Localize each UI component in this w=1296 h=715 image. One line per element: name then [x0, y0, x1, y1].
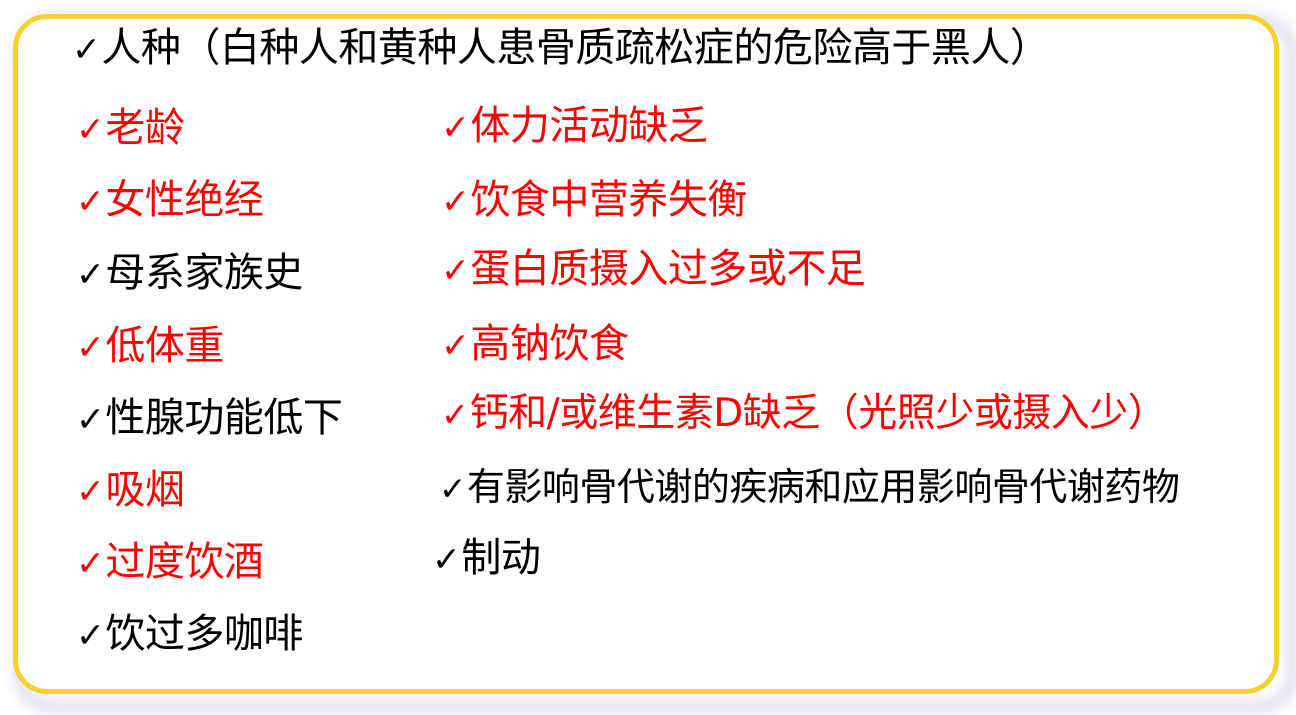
list-item-left-3: ✓母系家族史 — [76, 253, 303, 293]
list-item-left-6-label: 吸烟 — [105, 470, 184, 510]
list-item-right-3-label: 蛋白质摄入过多或不足 — [470, 249, 865, 289]
list-item-left-5-label: 性腺功能低下 — [105, 398, 342, 438]
list-item-right-6: ✓有影响骨代谢的疾病和应用影响骨代谢药物 — [439, 468, 1179, 506]
list-item-right-6-label: 有影响骨代谢的疾病和应用影响骨代谢药物 — [467, 468, 1180, 506]
list-item-left-4-label: 低体重 — [105, 326, 224, 366]
checkmark-icon: ✓ — [432, 543, 460, 577]
checkmark-icon: ✓ — [76, 403, 104, 437]
slide-root: ✓人种（白种人和黄种人患骨质疏松症的危险高于黑人） ✓老龄 ✓女性绝经 ✓母系家… — [0, 0, 1296, 715]
list-item-right-5: ✓钙和/或维生素D缺乏（光照少或摄入少） — [441, 394, 1166, 433]
checkmark-icon: ✓ — [72, 33, 100, 67]
list-item-left-8-label: 饮过多咖啡 — [105, 614, 303, 654]
checkmark-icon: ✓ — [441, 329, 469, 363]
list-item-left-6: ✓吸烟 — [76, 470, 184, 510]
list-item-left-4: ✓低体重 — [76, 326, 224, 366]
list-item-right-2: ✓饮食中营养失衡 — [441, 180, 747, 220]
checkmark-icon: ✓ — [441, 254, 469, 288]
list-item-left-8: ✓饮过多咖啡 — [76, 614, 303, 654]
list-item-left-2-label: 女性绝经 — [105, 180, 263, 220]
list-item-left-7: ✓过度饮酒 — [76, 542, 263, 582]
list-item-right-7-label: 制动 — [461, 538, 540, 578]
list-item-right-1-label: 体力活动缺乏 — [470, 106, 707, 146]
checkmark-icon: ✓ — [441, 185, 469, 219]
header-list-item: ✓人种（白种人和黄种人患骨质疏松症的危险高于黑人） — [72, 28, 1049, 68]
list-item-left-3-label: 母系家族史 — [105, 253, 303, 293]
list-item-left-5: ✓性腺功能低下 — [76, 398, 342, 438]
list-item-left-1: ✓老龄 — [76, 108, 184, 148]
list-item-right-4-label: 高钠饮食 — [470, 324, 628, 364]
list-item-left-7-label: 过度饮酒 — [105, 542, 263, 582]
list-item-right-2-label: 饮食中营养失衡 — [470, 180, 747, 220]
slide-content: ✓人种（白种人和黄种人患骨质疏松症的危险高于黑人） ✓老龄 ✓女性绝经 ✓母系家… — [0, 0, 1296, 715]
list-item-right-5-label: 钙和/或维生素D缺乏（光照少或摄入少） — [470, 394, 1167, 433]
checkmark-icon: ✓ — [76, 258, 104, 292]
checkmark-icon: ✓ — [76, 185, 104, 219]
list-item-right-4: ✓高钠饮食 — [441, 324, 628, 364]
header-list-item-label: 人种（白种人和黄种人患骨质疏松症的危险高于黑人） — [101, 28, 1049, 68]
list-item-left-1-label: 老龄 — [105, 108, 184, 148]
checkmark-icon: ✓ — [76, 331, 104, 365]
list-item-right-3: ✓蛋白质摄入过多或不足 — [441, 249, 865, 289]
checkmark-icon: ✓ — [76, 619, 104, 653]
checkmark-icon: ✓ — [441, 111, 469, 145]
checkmark-icon: ✓ — [76, 475, 104, 509]
checkmark-icon: ✓ — [76, 547, 104, 581]
list-item-left-2: ✓女性绝经 — [76, 180, 263, 220]
list-item-right-7: ✓制动 — [432, 538, 540, 578]
list-item-right-1: ✓体力活动缺乏 — [441, 106, 707, 146]
checkmark-icon: ✓ — [441, 398, 469, 432]
checkmark-icon: ✓ — [76, 113, 104, 147]
checkmark-icon: ✓ — [439, 473, 466, 506]
